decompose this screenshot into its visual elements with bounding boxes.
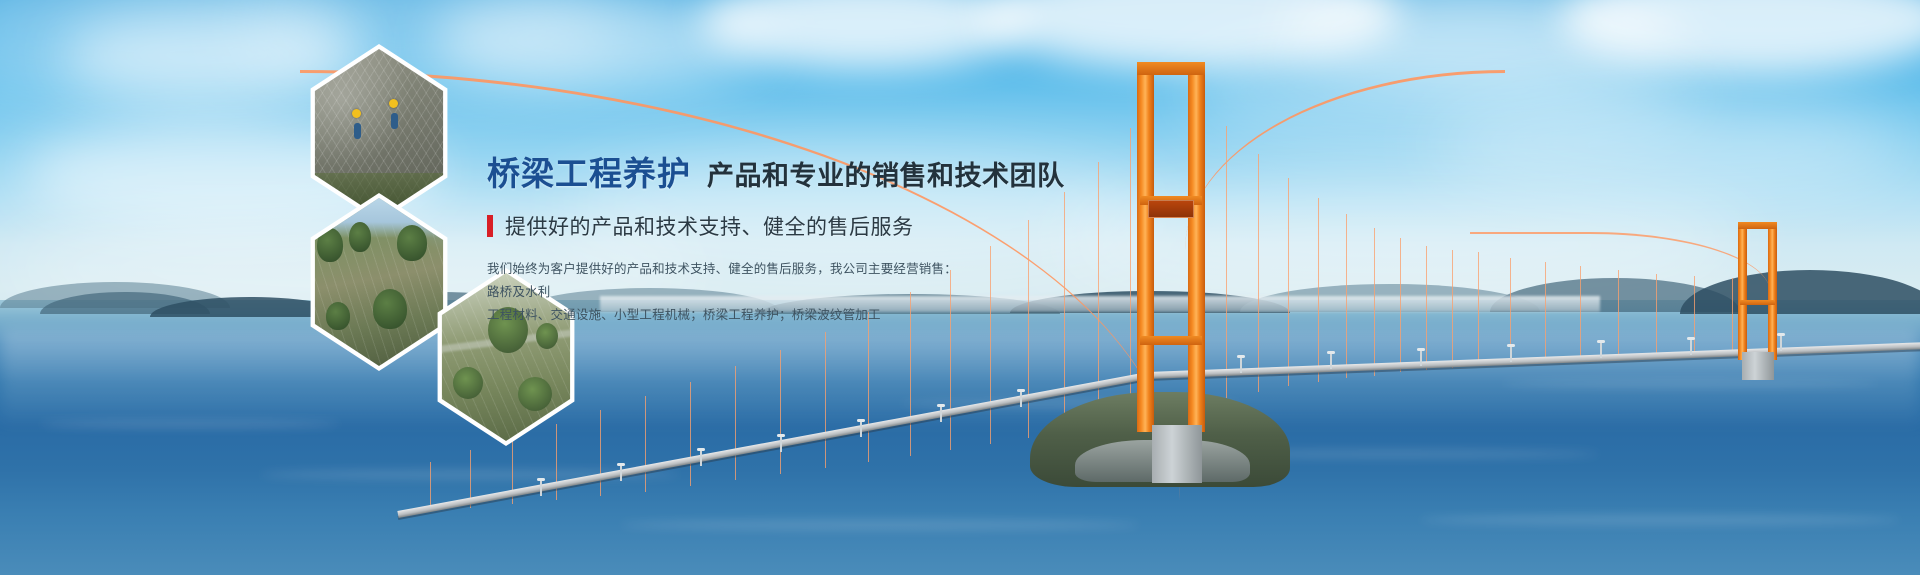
- bridge-tower-sign: [1148, 200, 1194, 218]
- bridge-hanger: [1400, 238, 1401, 372]
- bridge-hanger: [1374, 228, 1375, 376]
- worker-helmet-icon: [389, 99, 398, 108]
- bridge-secondary-tower-mid-crossbeam: [1740, 300, 1775, 305]
- bridge-hanger: [868, 312, 869, 462]
- banner-headline: 桥梁工程养护 产品和专业的销售和技术团队: [487, 155, 1107, 193]
- bridge-hanger: [690, 382, 691, 486]
- bridge-hanger: [1426, 246, 1427, 370]
- bridge-hanger: [825, 332, 826, 468]
- banner-subheadline: 提供好的产品和技术支持、健全的售后服务: [487, 211, 1107, 241]
- bridge-secondary-tower-right-leg: [1768, 222, 1777, 360]
- worker-helmet-icon: [352, 109, 361, 118]
- bridge-lamp: [1330, 353, 1332, 369]
- bridge-hanger: [1226, 126, 1227, 398]
- tree-shape: [317, 228, 343, 262]
- bridge-secondary-tower-left-leg: [1738, 222, 1747, 360]
- bridge-hanger: [1346, 214, 1347, 378]
- tree-shape: [349, 222, 371, 252]
- hero-banner: 桥梁工程养护 产品和专业的销售和技术团队 提供好的产品和技术支持、健全的售后服务…: [0, 0, 1920, 575]
- bridge-hanger: [1318, 198, 1319, 382]
- bridge-lamp: [1240, 357, 1242, 373]
- bridge-hanger: [1288, 178, 1289, 386]
- bridge-lamp: [860, 421, 862, 437]
- bridge-pier: [1742, 352, 1774, 380]
- bridge-main-tower-right-leg: [1188, 62, 1205, 432]
- banner-text-block: 桥梁工程养护 产品和专业的销售和技术团队 提供好的产品和技术支持、健全的售后服务…: [487, 155, 1107, 327]
- banner-description: 我们始终为客户提供好的产品和技术支持、健全的售后服务，我公司主要经营销售：路桥及…: [487, 258, 957, 327]
- bridge-pier: [1152, 425, 1202, 483]
- bridge-hanger: [1732, 278, 1733, 352]
- tree-shape: [373, 289, 407, 329]
- bridge-lamp: [700, 450, 702, 466]
- headline-secondary-text: 产品和专业的销售和技术团队: [707, 161, 1065, 192]
- bridge-hanger: [735, 366, 736, 480]
- wave-highlight: [620, 520, 1140, 530]
- bridge-lamp: [1690, 339, 1692, 355]
- wave-highlight: [1420, 515, 1900, 525]
- bridge-main-tower-top-crossbeam: [1137, 62, 1205, 75]
- worker-figure: [391, 113, 398, 129]
- bridge-hanger: [1580, 266, 1581, 360]
- bridge-main-tower-left-leg: [1137, 62, 1154, 432]
- bridge-hanger: [1478, 252, 1479, 366]
- worker-figure: [354, 123, 361, 139]
- bridge-hanger: [600, 410, 601, 496]
- bridge-lamp: [1780, 335, 1782, 351]
- bridge-lamp: [780, 436, 782, 452]
- bridge-hanger: [430, 462, 431, 510]
- bridge-hanger: [780, 350, 781, 474]
- wave-highlight: [40, 420, 340, 428]
- bridge-hanger: [1452, 250, 1453, 368]
- bush-shape: [518, 377, 552, 411]
- bridge-hanger: [1694, 276, 1695, 354]
- bridge-main-tower-mid-crossbeam: [1140, 336, 1202, 345]
- bridge-secondary-tower-top-crossbeam: [1738, 222, 1777, 229]
- bridge-hanger: [1545, 262, 1546, 362]
- bridge-lamp: [1600, 342, 1602, 358]
- bridge-hanger: [1618, 270, 1619, 358]
- bridge-lamp: [1420, 350, 1422, 366]
- description-line-2: 工程材料、交通设施、小型工程机械；桥梁工程养护；桥梁波纹管加工: [487, 304, 957, 327]
- headline-primary-text: 桥梁工程养护: [487, 155, 691, 193]
- bridge-lamp: [940, 406, 942, 422]
- description-line-1: 我们始终为客户提供好的产品和技术支持、健全的售后服务，我公司主要经营销售：路桥及…: [487, 258, 957, 304]
- bridge-hanger: [645, 396, 646, 492]
- bridge-lamp: [1020, 391, 1022, 407]
- bridge-hanger: [1258, 154, 1259, 392]
- subheadline-text: 提供好的产品和技术支持、健全的售后服务: [505, 211, 914, 241]
- bush-shape: [453, 367, 483, 399]
- bridge-hanger: [1656, 274, 1657, 356]
- bridge-lamp: [620, 465, 622, 481]
- wave-highlight: [1500, 380, 1880, 387]
- bridge-lamp: [1510, 346, 1512, 362]
- tree-shape: [326, 302, 350, 330]
- accent-bar: [487, 215, 493, 237]
- tree-shape: [397, 225, 427, 261]
- bridge-lamp: [540, 480, 542, 496]
